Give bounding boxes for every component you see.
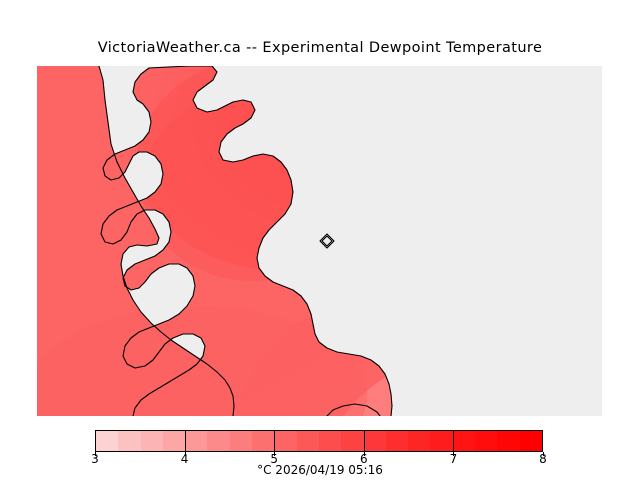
colorbar-tick <box>364 430 365 452</box>
page-title: VictoriaWeather.ca -- Experimental Dewpo… <box>0 40 640 56</box>
colorbar-tick <box>185 430 186 452</box>
colorbar-swatch <box>475 431 497 451</box>
map-plot-area[interactable] <box>37 66 602 416</box>
colorbar-tick <box>274 430 275 452</box>
colorbar-swatch <box>185 431 207 451</box>
colorbar-swatch <box>364 431 386 451</box>
colorbar-swatch <box>252 431 274 451</box>
colorbar-swatch <box>163 431 185 451</box>
colorbar-swatch <box>497 431 519 451</box>
colorbar-swatch <box>297 431 319 451</box>
colorbar-swatch <box>430 431 452 451</box>
colorbar-gradient <box>95 430 543 452</box>
colorbar-swatch <box>520 431 542 451</box>
colorbar-swatch <box>230 431 252 451</box>
colorbar-swatch <box>453 431 475 451</box>
colorbar-swatch <box>319 431 341 451</box>
colorbar[interactable] <box>95 430 543 452</box>
colorbar-swatch <box>274 431 296 451</box>
colorbar-swatch <box>341 431 363 451</box>
coastline-overlay <box>37 66 602 416</box>
colorbar-caption: °C 2026/04/19 05:16 <box>0 463 640 477</box>
colorbar-tick <box>453 430 454 452</box>
colorbar-swatch <box>96 431 118 451</box>
colorbar-swatch <box>118 431 140 451</box>
colorbar-swatch <box>408 431 430 451</box>
colorbar-swatch <box>141 431 163 451</box>
colorbar-swatch <box>207 431 229 451</box>
colorbar-swatch <box>386 431 408 451</box>
